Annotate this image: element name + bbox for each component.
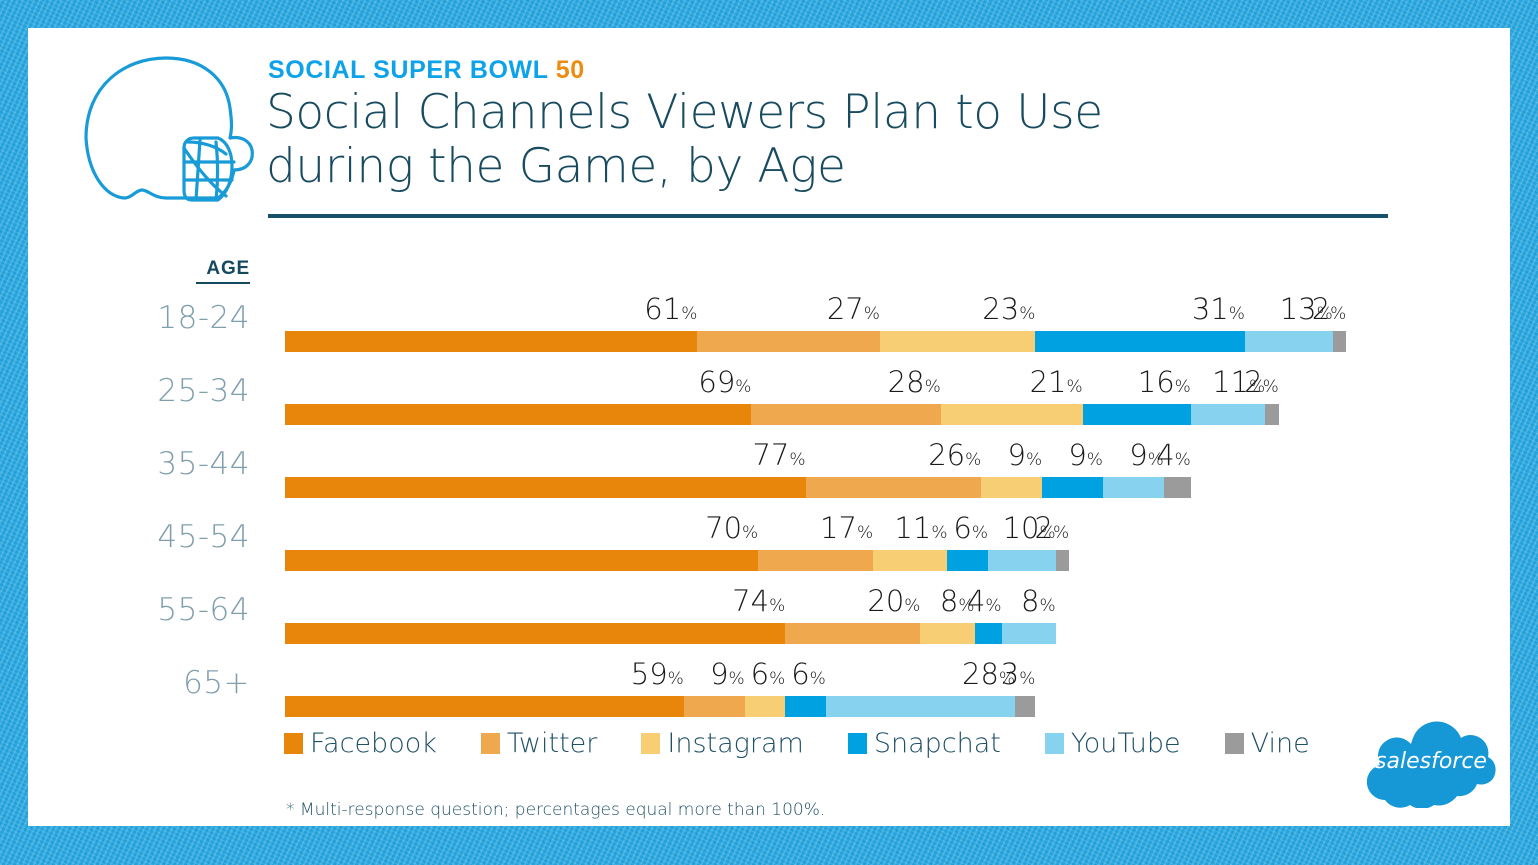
bar-value-label: 27% bbox=[827, 294, 880, 329]
bar-value-label: 23% bbox=[982, 294, 1035, 329]
value-label-row: 77%26%9%9%9%4% bbox=[285, 441, 1485, 475]
bar-value-label: 6% bbox=[953, 513, 988, 548]
bar-segment-vine bbox=[1015, 696, 1035, 717]
bar-segment-instagram bbox=[745, 696, 786, 717]
bar-segment-youtube bbox=[1002, 623, 1056, 644]
legend-item-instagram[interactable]: Instagram bbox=[641, 728, 803, 759]
bar-segment-twitter bbox=[785, 623, 920, 644]
svg-text:salesforce: salesforce bbox=[1375, 749, 1487, 774]
bar-segment-twitter bbox=[758, 550, 873, 571]
legend-swatch-vine bbox=[1225, 733, 1244, 754]
bar-segment-snapchat bbox=[785, 696, 826, 717]
legend-item-snapchat[interactable]: Snapchat bbox=[848, 728, 1001, 759]
bar-segment-instagram bbox=[941, 404, 1083, 425]
bar-segment-youtube bbox=[1245, 331, 1333, 352]
bar-value-label: 9% bbox=[710, 659, 745, 694]
bar-segment-vine bbox=[1333, 331, 1347, 352]
bar-segment-snapchat bbox=[975, 623, 1002, 644]
bar-segment-snapchat bbox=[1035, 331, 1245, 352]
bar-row bbox=[285, 477, 1191, 498]
bar-value-label: 26% bbox=[928, 440, 981, 475]
legend: FacebookTwitterInstagramSnapchatYouTubeV… bbox=[284, 728, 1354, 759]
legend-swatch-youtube bbox=[1045, 733, 1064, 754]
bar-row bbox=[285, 331, 1346, 352]
bar-segment-twitter bbox=[684, 696, 745, 717]
legend-swatch-facebook bbox=[284, 733, 303, 754]
bar-segment-facebook bbox=[285, 477, 806, 498]
legend-item-facebook[interactable]: Facebook bbox=[284, 728, 437, 759]
age-label: 55-64 bbox=[68, 592, 250, 628]
bar-value-label: 16% bbox=[1138, 367, 1191, 402]
bar-segment-youtube bbox=[988, 550, 1056, 571]
bar-value-label: 9% bbox=[1068, 440, 1103, 475]
value-label-row: 61%27%23%31%13%2% bbox=[285, 295, 1485, 329]
age-label: 35-44 bbox=[68, 446, 250, 482]
bar-segment-facebook bbox=[285, 550, 758, 571]
bar-value-label: 17% bbox=[820, 513, 873, 548]
bar-value-label: 2% bbox=[1035, 513, 1070, 548]
legend-swatch-instagram bbox=[641, 733, 660, 754]
bar-value-label: 3% bbox=[1001, 659, 1036, 694]
bar-segment-vine bbox=[1164, 477, 1191, 498]
bar-segment-snapchat bbox=[947, 550, 988, 571]
bar-value-label: 31% bbox=[1192, 294, 1245, 329]
bar-segment-instagram bbox=[981, 477, 1042, 498]
legend-label: Instagram bbox=[667, 728, 803, 759]
bar-row bbox=[285, 404, 1279, 425]
bar-value-label: 4% bbox=[967, 586, 1002, 621]
bar-segment-twitter bbox=[806, 477, 982, 498]
bar-value-label: 2% bbox=[1312, 294, 1347, 329]
legend-label: Vine bbox=[1251, 728, 1310, 759]
bar-value-label: 74% bbox=[732, 586, 785, 621]
infographic-poster: SOCIAL SUPER BOWL 50 Social Channels Vie… bbox=[0, 0, 1538, 865]
salesforce-logo: salesforce bbox=[1366, 716, 1496, 808]
bar-segment-vine bbox=[1056, 550, 1070, 571]
age-label: 25-34 bbox=[68, 373, 250, 409]
legend-item-vine[interactable]: Vine bbox=[1225, 728, 1310, 759]
axis-header-age: AGE bbox=[138, 258, 250, 280]
value-label-row: 69%28%21%16%11%2% bbox=[285, 368, 1485, 402]
bar-value-label: 61% bbox=[644, 294, 697, 329]
bar-segment-facebook bbox=[285, 696, 684, 717]
bar-value-label: 11% bbox=[894, 513, 947, 548]
legend-label: YouTube bbox=[1071, 728, 1181, 759]
bar-segment-twitter bbox=[751, 404, 940, 425]
bar-value-label: 6% bbox=[791, 659, 826, 694]
bar-segment-snapchat bbox=[1083, 404, 1191, 425]
age-label: 18-24 bbox=[68, 300, 250, 336]
legend-label: Twitter bbox=[507, 728, 598, 759]
bar-segment-youtube bbox=[1191, 404, 1265, 425]
footnote: * Multi-response question; percentages e… bbox=[286, 800, 825, 820]
bar-value-label: 2% bbox=[1244, 367, 1279, 402]
white-card: SOCIAL SUPER BOWL 50 Social Channels Vie… bbox=[28, 28, 1510, 826]
legend-item-twitter[interactable]: Twitter bbox=[481, 728, 598, 759]
age-label: 45-54 bbox=[68, 519, 250, 555]
age-label: 65+ bbox=[68, 665, 250, 701]
bar-segment-instagram bbox=[920, 623, 974, 644]
bar-value-label: 59% bbox=[631, 659, 684, 694]
bar-value-label: 8% bbox=[1021, 586, 1056, 621]
bar-value-label: 28% bbox=[888, 367, 941, 402]
legend-item-youtube[interactable]: YouTube bbox=[1045, 728, 1181, 759]
axis-header-underline bbox=[196, 282, 250, 284]
legend-label: Snapchat bbox=[874, 728, 1001, 759]
legend-label: Facebook bbox=[310, 728, 437, 759]
bar-value-label: 9% bbox=[1008, 440, 1043, 475]
bar-segment-youtube bbox=[826, 696, 1015, 717]
bar-row bbox=[285, 623, 1056, 644]
bar-value-label: 6% bbox=[751, 659, 786, 694]
bar-segment-twitter bbox=[697, 331, 880, 352]
bar-value-label: 69% bbox=[698, 367, 751, 402]
bar-row bbox=[285, 696, 1035, 717]
bar-segment-facebook bbox=[285, 623, 785, 644]
bar-value-label: 70% bbox=[705, 513, 758, 548]
bar-row bbox=[285, 550, 1069, 571]
legend-swatch-snapchat bbox=[848, 733, 867, 754]
bar-segment-facebook bbox=[285, 404, 751, 425]
bar-segment-instagram bbox=[873, 550, 947, 571]
bar-value-label: 20% bbox=[867, 586, 920, 621]
value-label-row: 74%20%8%4%8% bbox=[285, 587, 1485, 621]
bar-segment-facebook bbox=[285, 331, 697, 352]
bar-value-label: 4% bbox=[1156, 440, 1191, 475]
stacked-bar-chart: AGE 18-2461%27%23%31%13%2%25-3469%28%21%… bbox=[28, 28, 1510, 826]
legend-swatch-twitter bbox=[481, 733, 500, 754]
bar-segment-snapchat bbox=[1042, 477, 1103, 498]
bar-segment-vine bbox=[1265, 404, 1279, 425]
bar-value-label: 77% bbox=[752, 440, 805, 475]
value-label-row: 70%17%11%6%10%2% bbox=[285, 514, 1485, 548]
value-label-row: 59%9%6%6%28%3% bbox=[285, 660, 1485, 694]
bar-value-label: 21% bbox=[1030, 367, 1083, 402]
bar-segment-instagram bbox=[880, 331, 1035, 352]
bar-segment-youtube bbox=[1103, 477, 1164, 498]
